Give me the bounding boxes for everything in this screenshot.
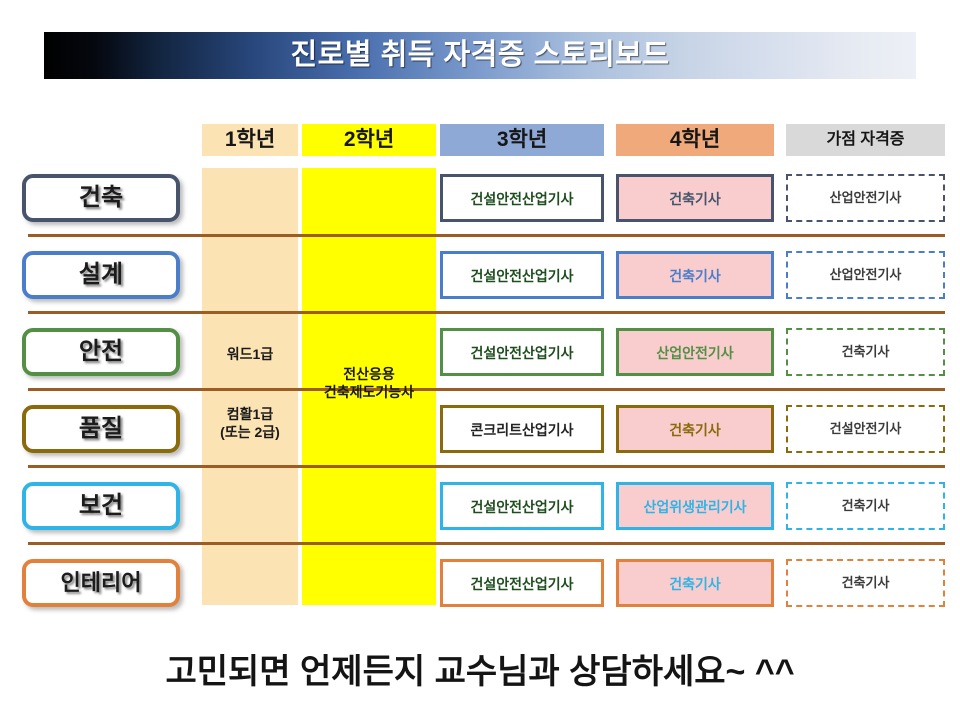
year3-cert-설계[interactable]: 건설안전산업기사	[440, 251, 604, 299]
year3-cert-건축[interactable]: 건설안전산업기사	[440, 174, 604, 222]
year1-cert-computer: 컴활1급 (또는 2급)	[202, 406, 298, 441]
year3-cert-안전[interactable]: 건설안전산업기사	[440, 328, 604, 376]
row-separator-5	[28, 542, 945, 545]
bonus-cert-인테리어[interactable]: 건축기사	[786, 559, 945, 607]
row-separator-4-overlay	[202, 465, 436, 468]
bonus-cert-보건[interactable]: 건축기사	[786, 482, 945, 530]
row-separator-4	[28, 465, 945, 468]
row-separator-5-overlay	[202, 542, 436, 545]
column-header-bonus: 가점 자격증	[786, 124, 945, 156]
bonus-cert-설계[interactable]: 산업안전기사	[786, 251, 945, 299]
year4-cert-보건[interactable]: 산업위생관리기사	[616, 482, 774, 530]
column-header-year4: 4학년	[616, 124, 774, 156]
year2-cert-line2: 건축제도기능사	[324, 384, 414, 400]
year3-cert-품질[interactable]: 콘크리트산업기사	[440, 405, 604, 453]
column-header-year2: 2학년	[302, 124, 436, 156]
bonus-cert-건축[interactable]: 산업안전기사	[786, 174, 945, 222]
year2-cert-line1: 전산응용	[343, 366, 395, 382]
bonus-cert-품질[interactable]: 건설안전기사	[786, 405, 945, 453]
track-label-인테리어[interactable]: 인테리어	[22, 559, 180, 607]
track-label-설계[interactable]: 설계	[22, 251, 180, 299]
year4-cert-안전[interactable]: 산업안전기사	[616, 328, 774, 376]
year3-cert-보건[interactable]: 건설안전산업기사	[440, 482, 604, 530]
year4-cert-건축[interactable]: 건축기사	[616, 174, 774, 222]
year1-cert-computer-line1: 컴활1급	[227, 406, 273, 422]
year4-cert-인테리어[interactable]: 건축기사	[616, 559, 774, 607]
track-label-품질[interactable]: 품질	[22, 405, 180, 453]
column-header-year3: 3학년	[440, 124, 604, 156]
row-separator-1	[28, 234, 945, 237]
track-label-안전[interactable]: 안전	[22, 328, 180, 376]
track-label-건축[interactable]: 건축	[22, 174, 180, 222]
year3-cert-인테리어[interactable]: 건설안전산업기사	[440, 559, 604, 607]
row-separator-2	[28, 311, 945, 314]
row-separator-1-overlay	[202, 234, 436, 237]
footer-caption: 고민되면 언제든지 교수님과 상담하세요~ ^^	[0, 644, 960, 693]
bonus-cert-안전[interactable]: 건축기사	[786, 328, 945, 376]
year4-cert-품질[interactable]: 건축기사	[616, 405, 774, 453]
year4-cert-설계[interactable]: 건축기사	[616, 251, 774, 299]
row-separator-2-overlay	[202, 311, 436, 314]
column-header-year1: 1학년	[202, 124, 298, 156]
year1-cert-word: 워드1급	[202, 346, 298, 364]
row-separator-3	[28, 388, 945, 391]
year2-cert: 전산응용 건축제도기능사	[302, 366, 436, 401]
year1-cert-computer-line2: (또는 2급)	[220, 424, 280, 440]
track-label-보건[interactable]: 보건	[22, 482, 180, 530]
page-title: 진로별 취득 자격증 스토리보드	[44, 32, 916, 79]
